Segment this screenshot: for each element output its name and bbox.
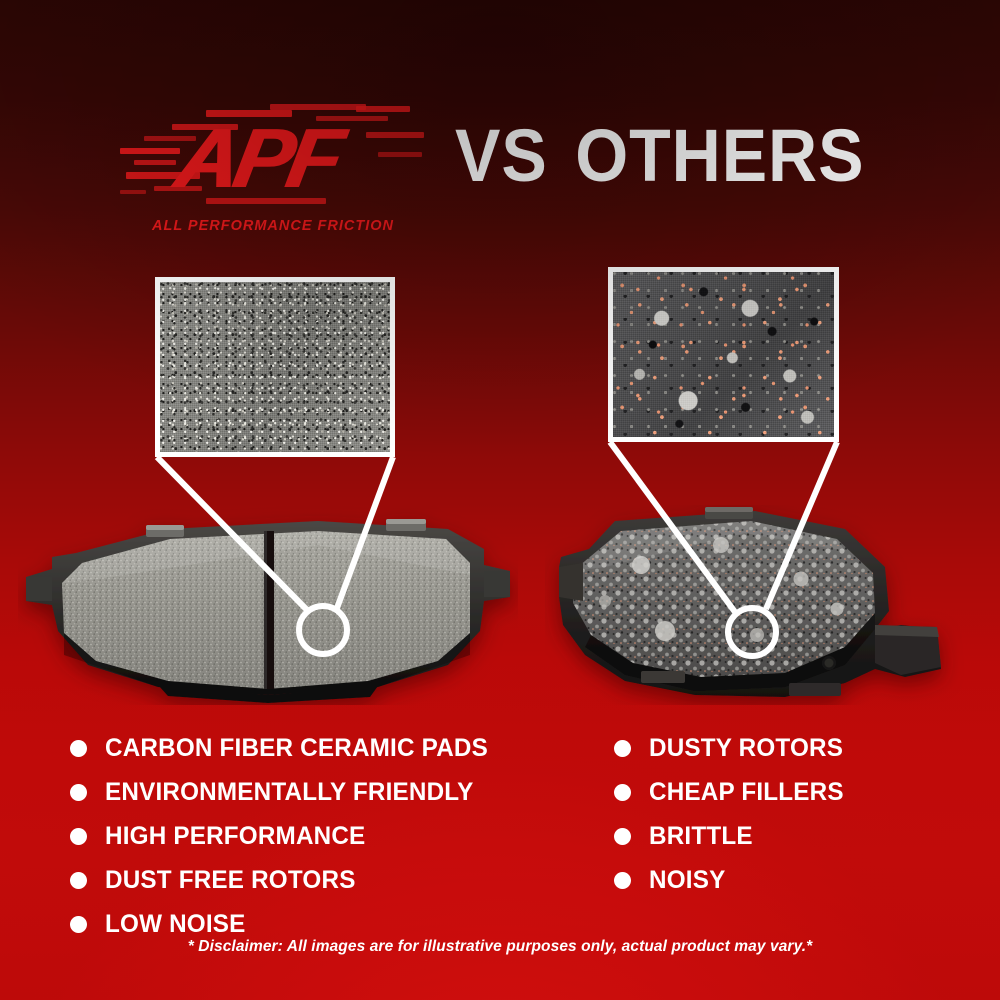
list-item: DUSTY ROTORS: [614, 726, 974, 770]
bullet-icon: [70, 784, 87, 801]
apf-tagline: ALL PERFORMANCE FRICTION: [142, 218, 404, 234]
bullet-icon: [614, 740, 631, 757]
list-item: BRITTLE: [614, 814, 974, 858]
feature-label: BRITTLE: [649, 822, 753, 851]
feature-label: ENVIRONMENTALLY FRIENDLY: [105, 778, 473, 807]
promo-banner: APF ALL PERFORMANCE FRICTION VSOTHERS: [0, 0, 1000, 1000]
feature-label: DUSTY ROTORS: [649, 734, 843, 763]
list-item: CARBON FIBER CERAMIC PADS: [70, 726, 590, 770]
apf-wordmark: APF: [170, 116, 344, 200]
header: APF ALL PERFORMANCE FRICTION VSOTHERS: [0, 96, 1000, 236]
feature-label: NOISY: [649, 866, 725, 895]
feature-label: LOW NOISE: [105, 910, 246, 939]
list-item: ENVIRONMENTALLY FRIENDLY: [70, 770, 590, 814]
apf-feature-list: CARBON FIBER CERAMIC PADS ENVIRONMENTALL…: [70, 726, 590, 946]
others-label: OTHERS: [575, 114, 864, 197]
vs-others-title: VSOTHERS: [455, 114, 864, 198]
bullet-icon: [70, 740, 87, 757]
right-material-swatch: [613, 272, 834, 437]
apf-logo: APF ALL PERFORMANCE FRICTION: [120, 102, 420, 234]
bullet-icon: [614, 784, 631, 801]
list-item: CHEAP FILLERS: [614, 770, 974, 814]
list-item: DUST FREE ROTORS: [70, 858, 590, 902]
left-material-swatch-frame: [155, 277, 395, 457]
competitor-feature-list: DUSTY ROTORS CHEAP FILLERS BRITTLE NOISY: [614, 726, 974, 902]
left-brake-pad: [18, 505, 518, 705]
list-item: NOISY: [614, 858, 974, 902]
bullet-icon: [614, 828, 631, 845]
bullet-icon: [614, 872, 631, 889]
bullet-icon: [70, 828, 87, 845]
feature-label: HIGH PERFORMANCE: [105, 822, 365, 851]
vs-label: VS: [455, 114, 548, 197]
feature-label: DUST FREE ROTORS: [105, 866, 356, 895]
bullet-icon: [70, 916, 87, 933]
disclaimer-text: * Disclaimer: All images are for illustr…: [0, 938, 1000, 956]
right-pad-graphic: [545, 505, 965, 705]
feature-label: CHEAP FILLERS: [649, 778, 844, 807]
right-brake-pad: [545, 505, 965, 705]
left-pad-graphic: [18, 505, 518, 705]
list-item: HIGH PERFORMANCE: [70, 814, 590, 858]
right-material-swatch-frame: [608, 267, 839, 442]
left-swatch-grain-overlay: [160, 282, 390, 452]
right-swatch-grain-overlay: [613, 272, 834, 437]
left-material-swatch: [160, 282, 390, 452]
bullet-icon: [70, 872, 87, 889]
feature-label: CARBON FIBER CERAMIC PADS: [105, 734, 488, 763]
